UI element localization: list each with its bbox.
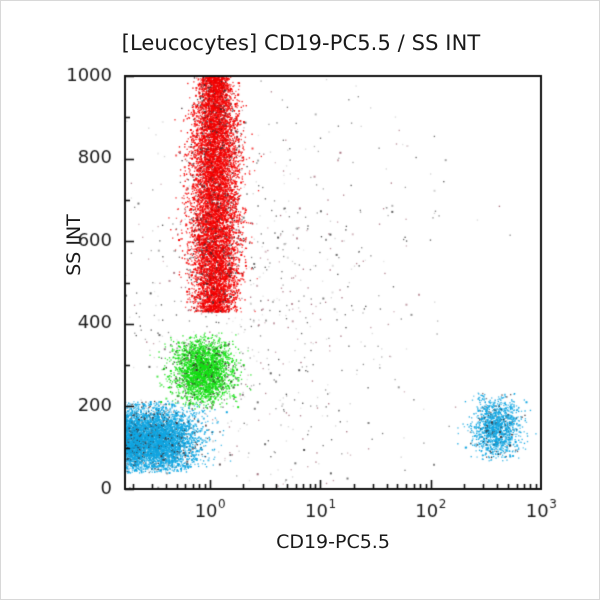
scatter-plot-canvas[interactable] (1, 1, 600, 601)
flow-cytometry-plot-panel: [Leucocytes] CD19-PC5.5 / SS INT SS INT … (0, 0, 600, 600)
scatter-plot-canvas-host (1, 1, 600, 601)
